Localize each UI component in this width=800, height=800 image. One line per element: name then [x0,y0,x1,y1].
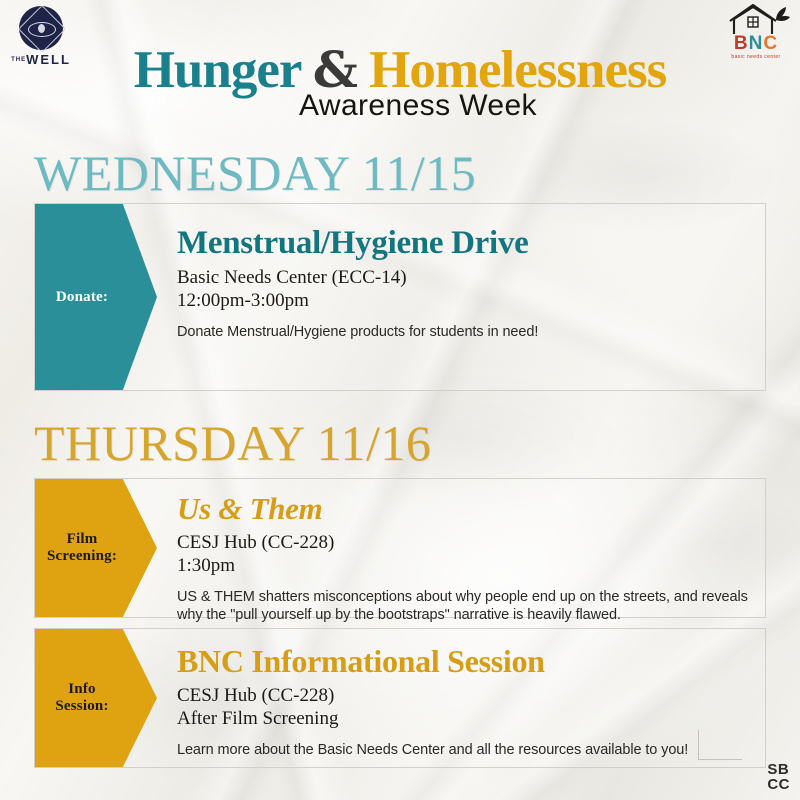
event-body: BNC Informational Session CESJ Hub (CC-2… [177,629,755,767]
event-location: CESJ Hub (CC-228) [177,532,755,554]
event-body: Us & Them CESJ Hub (CC-228) 1:30pm US & … [177,479,755,617]
event-body: Menstrual/Hygiene Drive Basic Needs Cent… [177,204,755,390]
event-tab-film-screening: Film Screening: [35,479,157,617]
sbcc-line-cc: CC [767,778,790,792]
house-leaf-svg [720,4,792,36]
poster-canvas: THEWELL BNC basic needs center Hunger & … [0,0,800,800]
house-leaf-icon [720,4,792,36]
event-title: Us & Them [177,493,755,525]
event-description: Learn more about the Basic Needs Center … [177,741,755,759]
event-tab-label: Film Screening: [47,531,117,565]
day-heading-wednesday: WEDNESDAY 11/15 [34,148,476,198]
event-location: Basic Needs Center (ECC-14) [177,267,755,289]
event-location: CESJ Hub (CC-228) [177,685,755,707]
event-meta: CESJ Hub (CC-228) 1:30pm [177,532,755,577]
footer-rule [698,730,742,760]
event-tab-info-session: Info Session: [35,629,157,767]
event-card-menstrual-hygiene-drive[interactable]: Donate: Menstrual/Hygiene Drive Basic Ne… [34,203,766,391]
poster-subtitle: Awareness Week [18,89,800,123]
event-tab-label: Info Session: [55,681,108,715]
event-meta: CESJ Hub (CC-228) After Film Screening [177,685,755,730]
event-description: Donate Menstrual/Hygiene products for st… [177,323,755,341]
event-tab-donate: Donate: [35,204,157,390]
event-title: Menstrual/Hygiene Drive [177,226,755,260]
well-eye-icon [38,24,45,33]
poster-title-block: Hunger & Homelessness Awareness Week [0,44,800,123]
event-tab-label: Donate: [56,289,108,306]
event-time: 1:30pm [177,555,755,577]
event-time: 12:00pm-3:00pm [177,290,755,312]
event-description: US & THEM shatters misconceptions about … [177,588,755,624]
event-title: BNC Informational Session [177,645,755,678]
event-card-us-and-them[interactable]: Film Screening: Us & Them CESJ Hub (CC-2… [34,478,766,618]
sbcc-logo: SB CC [767,763,790,792]
event-time: After Film Screening [177,708,755,730]
event-card-bnc-informational-session[interactable]: Info Session: BNC Informational Session … [34,628,766,768]
event-meta: Basic Needs Center (ECC-14) 12:00pm-3:00… [177,267,755,312]
poster-header: THEWELL BNC basic needs center Hunger & … [0,0,800,140]
day-heading-thursday: THURSDAY 11/16 [34,418,431,468]
